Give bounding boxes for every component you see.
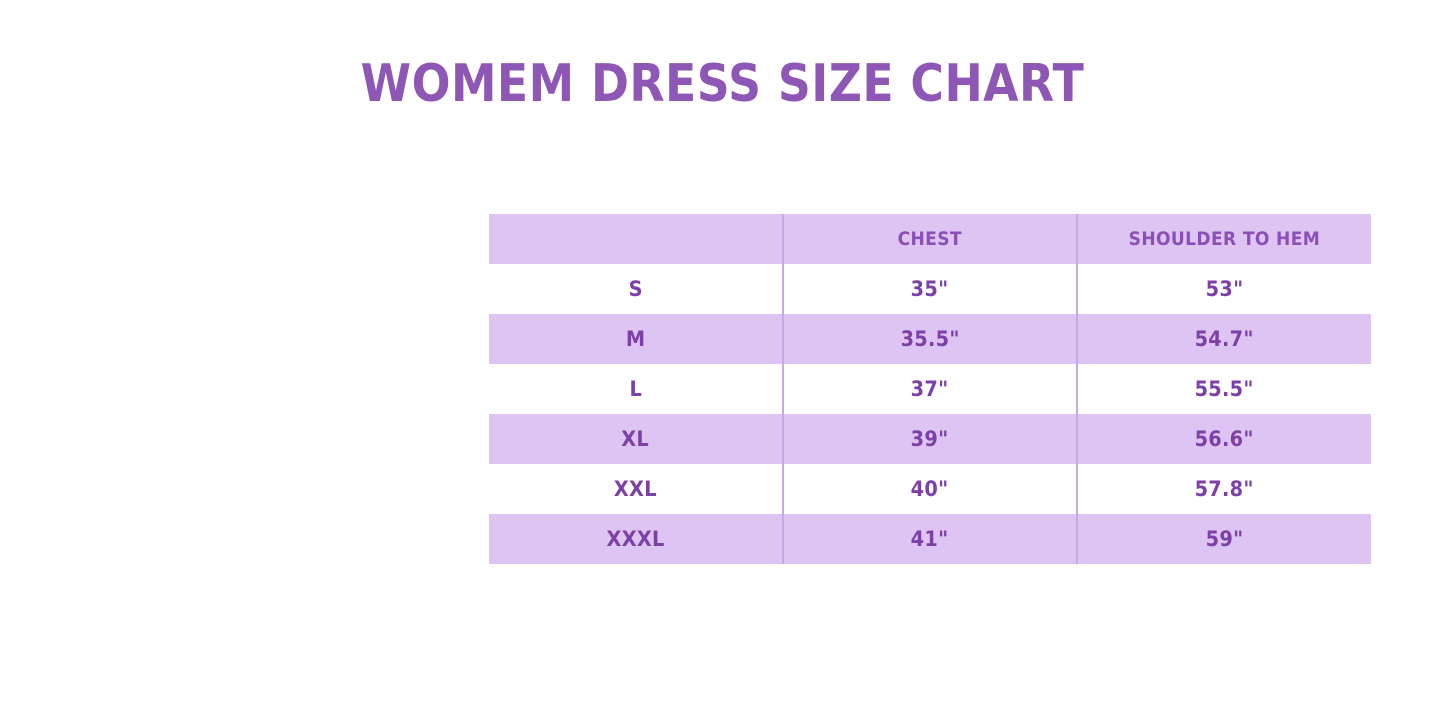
cell-chest-value: 35" [911, 277, 949, 301]
cell-size-value: L [629, 377, 642, 401]
cell-size: L [489, 364, 783, 414]
table-row: S 35" 53" [489, 264, 1371, 314]
size-chart-page: WOMEM DRESS SIZE CHART CHEST SHOULDER TO… [0, 0, 1445, 723]
cell-shoulder-to-hem: 57.8" [1077, 464, 1371, 514]
cell-shoulder-to-hem: 59" [1077, 514, 1371, 564]
page-title: WOMEM DRESS SIZE CHART [87, 58, 1359, 110]
table-row: XXL 40" 57.8" [489, 464, 1371, 514]
cell-shoulder-to-hem: 53" [1077, 264, 1371, 314]
cell-chest: 35.5" [783, 314, 1077, 364]
cell-size: XXXL [489, 514, 783, 564]
cell-size: XXL [489, 464, 783, 514]
cell-size-value: XXXL [606, 527, 664, 551]
column-header-size [489, 214, 783, 264]
table-row: M 35.5" 54.7" [489, 314, 1371, 364]
column-header-shoulder-to-hem-label: SHOULDER TO HEM [1129, 228, 1321, 250]
cell-shoulder-to-hem-value: 59" [1206, 527, 1244, 551]
cell-size-value: S [628, 277, 642, 301]
cell-chest-value: 37" [911, 377, 949, 401]
cell-shoulder-to-hem-value: 53" [1206, 277, 1244, 301]
table-body: S 35" 53" M 35.5" 54.7" L 37" 55.5" XL 3… [489, 264, 1371, 564]
cell-chest: 35" [783, 264, 1077, 314]
cell-shoulder-to-hem-value: 54.7" [1195, 327, 1254, 351]
cell-chest: 40" [783, 464, 1077, 514]
column-header-chest-label: CHEST [898, 228, 962, 250]
table-row: L 37" 55.5" [489, 364, 1371, 414]
cell-size-value: XL [622, 427, 650, 451]
cell-chest-value: 40" [911, 477, 949, 501]
cell-size-value: XXL [614, 477, 657, 501]
cell-chest-value: 35.5" [900, 327, 959, 351]
table-header: CHEST SHOULDER TO HEM [489, 214, 1371, 264]
cell-chest-value: 41" [911, 527, 949, 551]
cell-shoulder-to-hem: 55.5" [1077, 364, 1371, 414]
table-row: XL 39" 56.6" [489, 414, 1371, 464]
cell-chest: 39" [783, 414, 1077, 464]
column-header-shoulder-to-hem: SHOULDER TO HEM [1077, 214, 1371, 264]
cell-shoulder-to-hem: 54.7" [1077, 314, 1371, 364]
cell-shoulder-to-hem-value: 56.6" [1195, 427, 1254, 451]
cell-chest-value: 39" [911, 427, 949, 451]
size-chart-table: CHEST SHOULDER TO HEM S 35" 53" M 35.5" … [489, 214, 1371, 564]
cell-size-value: M [626, 327, 646, 351]
column-header-chest: CHEST [783, 214, 1077, 264]
cell-size: M [489, 314, 783, 364]
cell-shoulder-to-hem-value: 57.8" [1195, 477, 1254, 501]
cell-shoulder-to-hem-value: 55.5" [1195, 377, 1254, 401]
cell-chest: 41" [783, 514, 1077, 564]
cell-shoulder-to-hem: 56.6" [1077, 414, 1371, 464]
cell-size: XL [489, 414, 783, 464]
cell-chest: 37" [783, 364, 1077, 414]
table-header-row: CHEST SHOULDER TO HEM [489, 214, 1371, 264]
size-chart-table-container: CHEST SHOULDER TO HEM S 35" 53" M 35.5" … [489, 214, 1371, 564]
table-row: XXXL 41" 59" [489, 514, 1371, 564]
cell-size: S [489, 264, 783, 314]
